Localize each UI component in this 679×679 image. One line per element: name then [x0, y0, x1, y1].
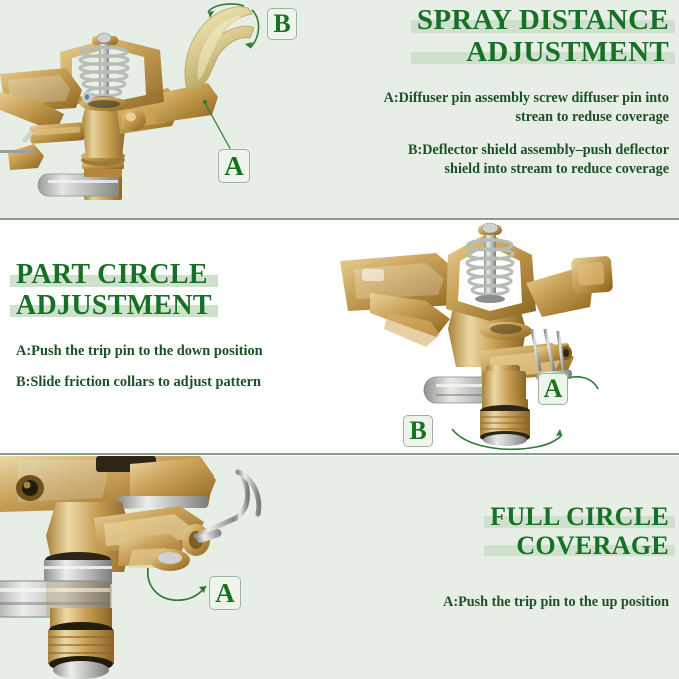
- callout-badge-a-panel1: A: [218, 149, 250, 183]
- coil-spring-2: [467, 240, 513, 295]
- panel-part-circle: PART CIRCLE ADJUSTMENT A:Push the trip p…: [0, 221, 679, 453]
- panel2-title-line-1: PART CIRCLE: [16, 259, 208, 290]
- panel2-title-line-2: ADJUSTMENT: [16, 290, 212, 321]
- swing-arm: [0, 68, 82, 132]
- rotation-arrow-a-3: [148, 568, 206, 600]
- panel-title-spray-distance: SPRAY DISTANCE ADJUSTMENT: [417, 6, 669, 67]
- text-part-circle: PART CIRCLE ADJUSTMENT A:Push the trip p…: [0, 221, 340, 453]
- panel3-title-line-1: FULL CIRCLE: [490, 502, 669, 531]
- arrowhead-b-2: [556, 429, 562, 436]
- panel1-paragraph-a: A:Diffuser pin assembly screw diffuser p…: [371, 89, 669, 127]
- leader-dot-a: [203, 100, 207, 104]
- friction-collars-3: [0, 552, 112, 617]
- panel-title-part-circle: PART CIRCLE ADJUSTMENT: [16, 261, 212, 320]
- sprinkler-riser: [38, 162, 124, 200]
- callout-badge-b-panel2: B: [403, 415, 433, 447]
- trip-pin-assembly: [0, 122, 85, 170]
- deflector-block: [526, 256, 613, 317]
- sprinkler-diagram-3: [0, 456, 340, 679]
- panel-divider-2: [0, 453, 679, 455]
- panel2-paragraph-b: B:Slide friction collars to adjust patte…: [16, 373, 261, 392]
- panel3-paragraph-a: A:Push the trip pin to the up position: [443, 593, 669, 612]
- impact-spring-assembly-2: [446, 223, 536, 321]
- panel-title-line-1: SPRAY DISTANCE: [417, 4, 669, 36]
- callout-badge-b-panel1: B: [267, 8, 297, 40]
- threaded-base: [480, 399, 530, 446]
- sprinkler-image-part-circle: A B: [340, 221, 679, 453]
- friction-collars: [424, 365, 526, 403]
- threaded-base-3: [48, 608, 114, 679]
- sprinkler-diagram-2: [340, 221, 679, 453]
- leader-line-a: [205, 103, 232, 152]
- panel-spray-distance: B A SPRAY DISTANCE ADJUSTMENT A:Diffuser…: [0, 0, 679, 218]
- panel3-title-line-2: COVERAGE: [516, 531, 669, 560]
- panel-divider-1: [0, 218, 679, 220]
- callout-badge-a-panel2: A: [538, 373, 568, 405]
- deflector-shield: [185, 7, 254, 90]
- sprinkler-image-spray-distance: B A: [0, 0, 340, 218]
- panel-title-full-circle: FULL CIRCLE COVERAGE: [490, 504, 669, 559]
- panel-title-line-2: ADJUSTMENT: [466, 36, 669, 68]
- panel1-paragraph-b: B:Deflector shield assembly–push deflect…: [371, 141, 669, 179]
- sprinkler-image-full-circle: A: [0, 456, 340, 679]
- panel-full-circle: A FULL CIRCLE COVERAGE A:Push the trip p…: [0, 456, 679, 679]
- text-spray-distance: SPRAY DISTANCE ADJUSTMENT A:Diffuser pin…: [340, 0, 679, 218]
- callout-badge-a-panel3: A: [209, 576, 241, 610]
- text-full-circle: FULL CIRCLE COVERAGE A:Push the trip pin…: [340, 456, 679, 679]
- panel2-paragraph-a: A:Push the trip pin to the down position: [16, 342, 263, 361]
- instruction-sheet: B A SPRAY DISTANCE ADJUSTMENT A:Diffuser…: [0, 0, 679, 679]
